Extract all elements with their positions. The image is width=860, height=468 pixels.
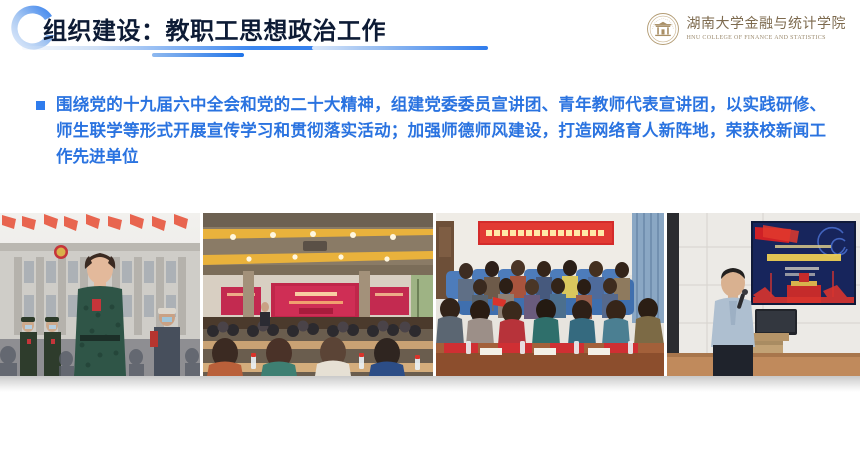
hnu-gate-seal-icon [646, 12, 680, 46]
title-rule-bottom [152, 53, 244, 57]
photo-lecture-hall [203, 213, 433, 376]
photo-great-hall-delegate [0, 213, 200, 376]
photo-podium-speaker [667, 213, 860, 376]
photo-strip-shadow [0, 376, 860, 392]
photo-strip [0, 213, 860, 376]
page-title: 组织建设：教职工思想政治工作 [43, 11, 386, 46]
title-underline [22, 44, 472, 60]
title-rule-top [22, 46, 362, 50]
photo-group-banner [436, 213, 664, 376]
bullet-item: 围绕党的十九届六中全会和党的二十大精神，组建党委委员宣讲团、青年教师代表宣讲团，… [36, 92, 826, 170]
logo-name-cn: 湖南大学金融与统计学院 [687, 18, 847, 32]
institution-logo: 湖南大学金融与统计学院 HNU COLLEGE OF FINANCE AND S… [646, 10, 847, 48]
logo-text-block: 湖南大学金融与统计学院 HNU COLLEGE OF FINANCE AND S… [687, 18, 847, 41]
bullet-item-text: 围绕党的十九届六中全会和党的二十大精神，组建党委委员宣讲团、青年教师代表宣讲团，… [56, 92, 826, 170]
logo-name-en: HNU COLLEGE OF FINANCE AND STATISTICS [687, 35, 847, 41]
square-bullet-icon [36, 101, 45, 110]
slide-header: 组织建设：教职工思想政治工作 湖南大学金融与统计学院 HNU COLLEGE O… [0, 0, 860, 70]
title-rule-top-right [312, 46, 488, 50]
slide-body: 围绕党的十九届六中全会和党的二十大精神，组建党委委员宣讲团、青年教师代表宣讲团，… [36, 92, 826, 170]
